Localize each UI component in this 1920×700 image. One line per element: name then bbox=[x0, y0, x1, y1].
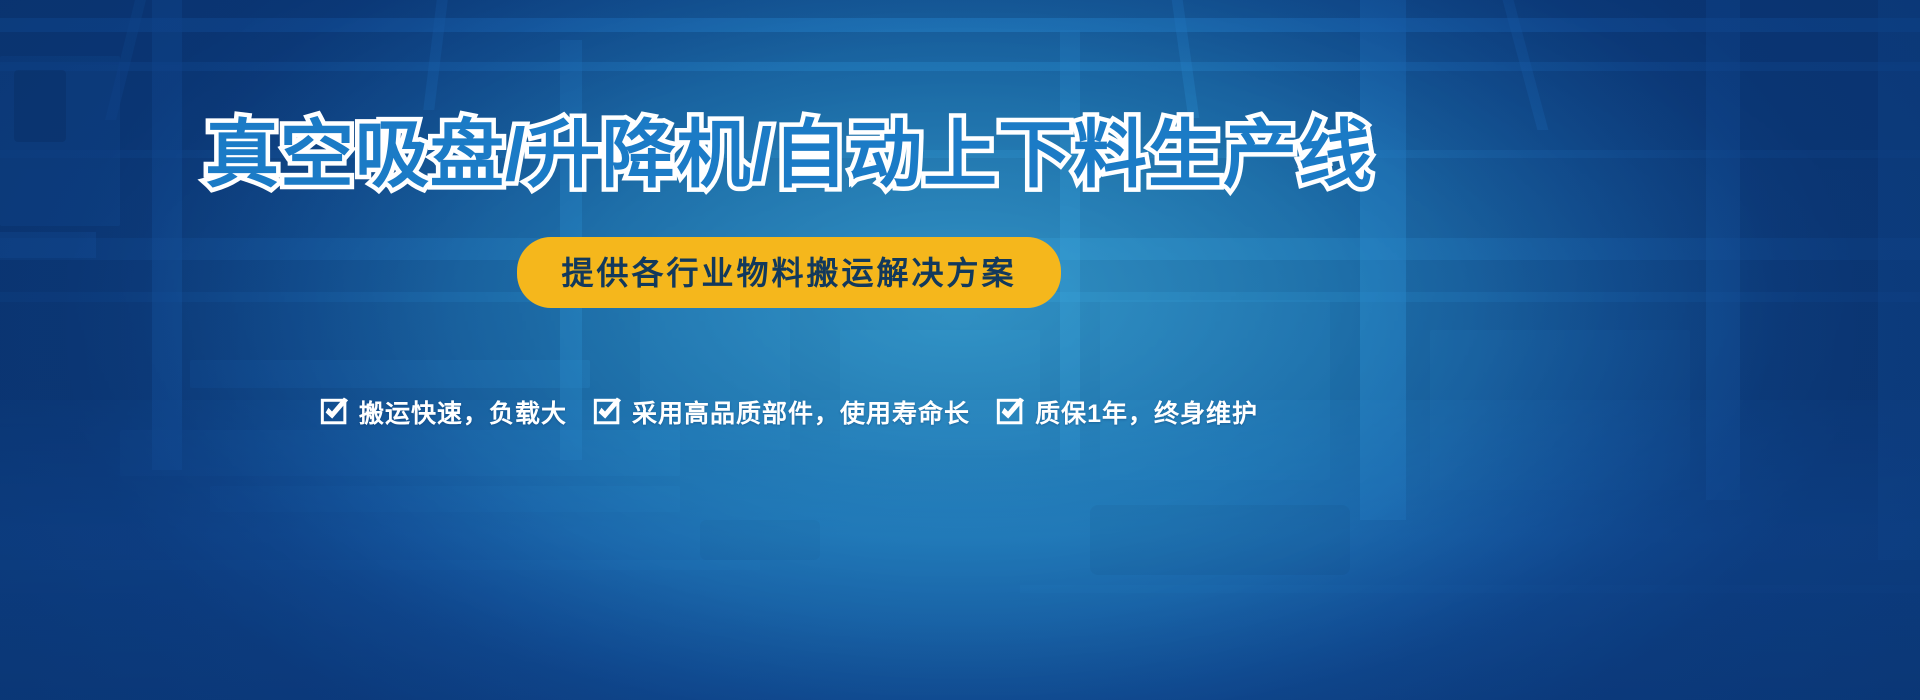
subtitle-pill-button[interactable]: 提供各行业物料搬运解决方案 bbox=[517, 237, 1060, 308]
check-box-icon bbox=[996, 397, 1026, 427]
feature-bullet-label: 质保1年，终身维护 bbox=[1035, 394, 1258, 430]
check-box-icon bbox=[320, 397, 350, 427]
feature-bullet-label: 搬运快速，负载大 bbox=[359, 394, 567, 430]
feature-bullet-1: 搬运快速，负载大 bbox=[320, 394, 567, 430]
check-box-icon bbox=[593, 397, 623, 427]
banner-title: 真空吸盘/升降机/自动上下料生产线 bbox=[0, 118, 1578, 192]
banner-subtitle-container: 提供各行业物料搬运解决方案 bbox=[0, 237, 1578, 308]
banner-content: 真空吸盘/升降机/自动上下料生产线 提供各行业物料搬运解决方案 搬运快速，负载大 bbox=[0, 0, 1920, 700]
feature-bullet-list: 搬运快速，负载大 采用高品质部件，使用寿命长 质保1年，终身维护 bbox=[0, 394, 1578, 430]
feature-bullet-2: 采用高品质部件，使用寿命长 bbox=[593, 394, 970, 430]
hero-banner: 真空吸盘/升降机/自动上下料生产线 提供各行业物料搬运解决方案 搬运快速，负载大 bbox=[0, 0, 1920, 700]
feature-bullet-3: 质保1年，终身维护 bbox=[996, 394, 1258, 430]
feature-bullet-label: 采用高品质部件，使用寿命长 bbox=[632, 394, 970, 430]
